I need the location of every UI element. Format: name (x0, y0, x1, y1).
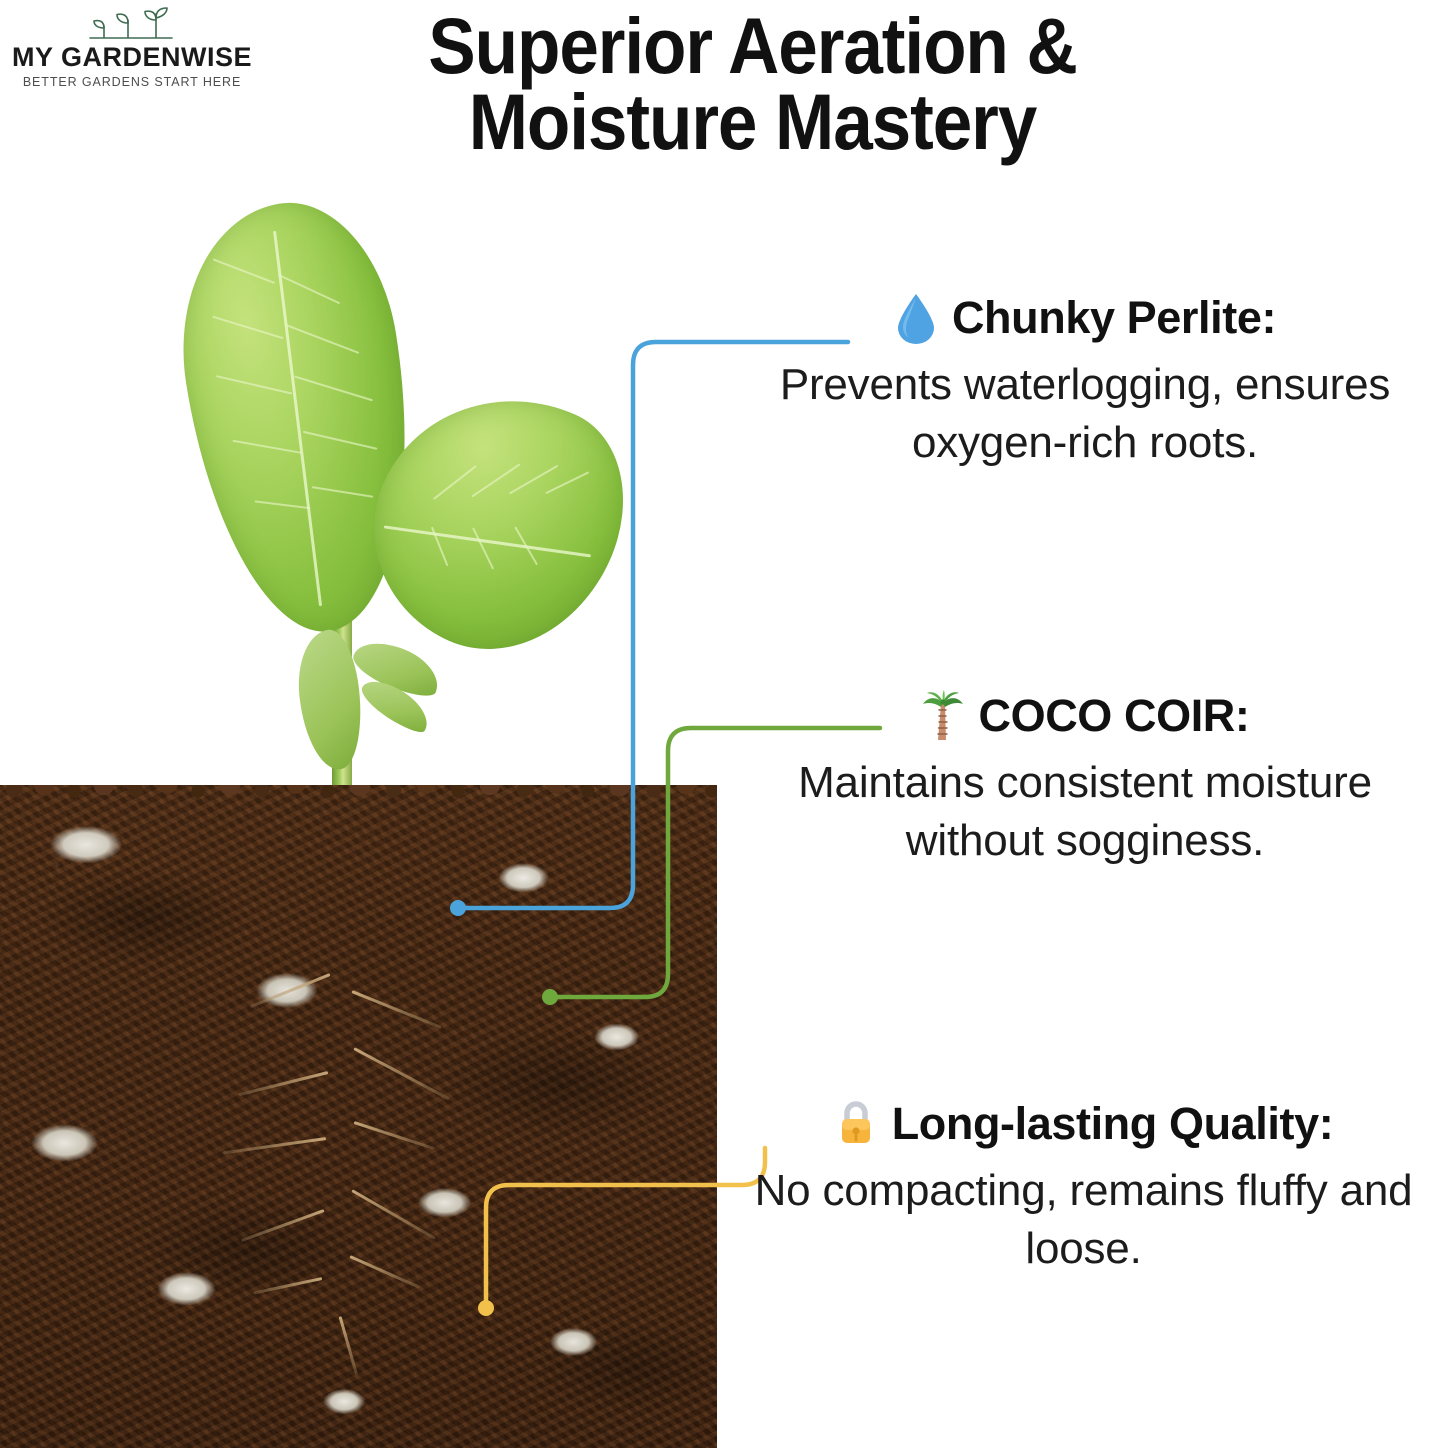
leaf-vein (433, 465, 477, 500)
callout-heading: COCO COIR: (735, 690, 1435, 742)
leaf-vein (311, 486, 372, 497)
leaf-vein (472, 528, 494, 570)
leaf-vein (546, 471, 590, 493)
lateral-root (353, 1047, 450, 1100)
brand-tagline: BETTER GARDENS START HERE (23, 75, 241, 89)
water-droplet-icon (894, 292, 938, 344)
lateral-root (250, 973, 331, 1008)
callout-heading: Chunky Perlite: (735, 292, 1435, 344)
leaf-vein (286, 325, 359, 354)
lateral-root (349, 1255, 420, 1289)
callout-body: Prevents waterlogging, ensures oxygen-ri… (735, 356, 1435, 472)
palm-tree-icon (921, 690, 965, 742)
leaf-midrib (273, 230, 322, 606)
padlock-icon (834, 1098, 878, 1150)
leaf-vein (255, 501, 311, 509)
lateral-root (238, 1071, 328, 1096)
callout-body: No compacting, remains fluffy and loose. (722, 1162, 1445, 1278)
lateral-root (351, 990, 441, 1029)
lateral-root (223, 1137, 326, 1154)
page-title: Superior Aeration & Moisture Mastery (314, 0, 1192, 160)
callout-title: Chunky Perlite: (952, 294, 1276, 341)
leaf-midrib (384, 525, 592, 557)
lateral-root (354, 1121, 435, 1150)
leaf-vein (213, 259, 275, 284)
callout-heading: Long-lasting Quality: (722, 1098, 1445, 1150)
callout-long-lasting-quality: Long-lasting Quality: No compacting, rem… (722, 1098, 1445, 1278)
brand-name: MY GARDENWISE (12, 44, 252, 72)
leaf-vein (294, 376, 373, 401)
brand-logo: MY GARDENWISE BETTER GARDENS START HERE (8, 4, 256, 90)
lateral-root (351, 1189, 436, 1240)
infographic-canvas: MY GARDENWISE BETTER GARDENS START HERE … (0, 0, 1445, 1448)
lateral-root (253, 1277, 322, 1294)
three-sprouts-icon (76, 4, 188, 44)
soil-surface-crumbs (0, 785, 717, 803)
callout-chunky-perlite: Chunky Perlite: Prevents waterlogging, e… (735, 292, 1435, 472)
soil-cross-section-photo (0, 785, 717, 1448)
leaf-vein (233, 440, 302, 454)
callout-body: Maintains consistent moisture without so… (735, 754, 1435, 870)
leaf-vein (277, 274, 339, 304)
lateral-root (241, 1209, 325, 1242)
lateral-root (339, 1316, 358, 1375)
callout-title: COCO COIR: (979, 692, 1250, 739)
page-title-line-1: Superior Aeration & (314, 8, 1192, 84)
callout-coco-coir: COCO COIR: Maintains consistent moisture… (735, 690, 1435, 870)
leaf-vein (216, 376, 292, 395)
callout-title: Long-lasting Quality: (892, 1100, 1334, 1147)
leaf-vein (302, 431, 376, 450)
leaf-vein (213, 316, 284, 339)
page-title-line-2: Moisture Mastery (314, 84, 1192, 160)
